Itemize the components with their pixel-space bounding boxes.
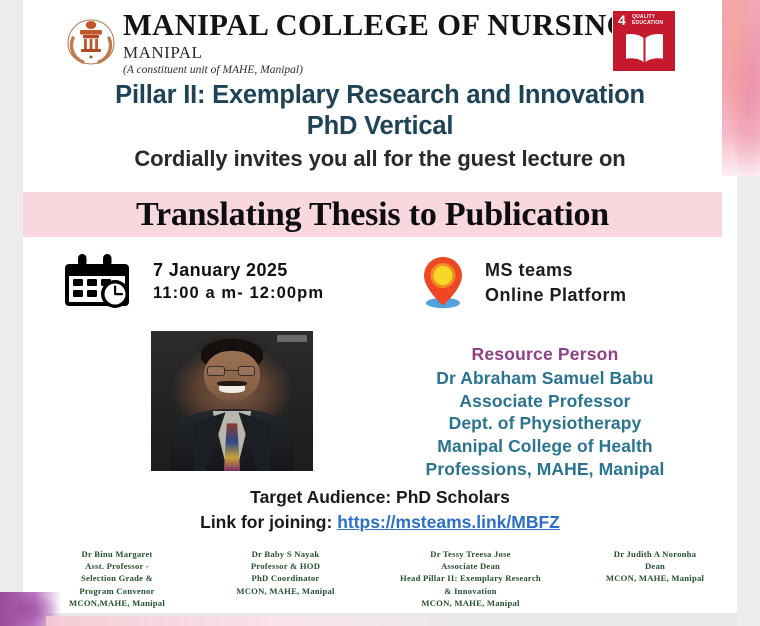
speaker-designation: Associate Professor xyxy=(353,390,737,413)
portrait-moustache xyxy=(217,381,246,386)
pillar-title-line2: PhD Vertical xyxy=(307,112,453,140)
credit-line: Dean xyxy=(573,560,737,572)
resource-person-label: Resource Person xyxy=(353,343,737,366)
credit-line: MCON, MAHE, Manipal xyxy=(368,597,573,609)
watercolor-accent-right xyxy=(722,0,760,176)
credit-name: Dr Tessy Treesa Jose xyxy=(368,548,573,560)
speaker-name: Dr Abraham Samuel Babu xyxy=(353,367,737,390)
speaker-department: Dept. of Physiotherapy xyxy=(353,412,737,435)
sdg-4-badge: 4 QUALITY EDUCATION xyxy=(612,10,676,72)
credit-column: Dr Judith A Noronha Dean MCON, MAHE, Man… xyxy=(573,548,737,585)
open-book-icon xyxy=(622,30,668,66)
portrait-glasses-left xyxy=(207,366,225,376)
lecture-title-banner: Translating Thesis to Publication xyxy=(23,192,722,237)
speaker-college-1: Manipal College of Health xyxy=(353,435,737,458)
credit-line: & Innovation xyxy=(368,585,573,597)
institution-name-block: MANIPAL COLLEGE OF NURSING MANIPAL (A co… xyxy=(123,10,631,76)
event-meta-row: 7 January 2025 11:00 a m- 12:00pm MS tea… xyxy=(23,252,737,314)
credit-line: Selection Grade & xyxy=(31,572,203,584)
page-left-margin xyxy=(0,0,23,626)
target-audience: Target Audience: PhD Scholars xyxy=(23,487,737,508)
institution-tagline: (A constituent unit of MAHE, Manipal) xyxy=(123,64,631,76)
organizer-credits: Dr Binu Margaret Asst. Professor - Selec… xyxy=(23,548,737,610)
credit-line: PhD Coordinator xyxy=(203,572,368,584)
event-platform: MS teams Online Platform xyxy=(485,258,627,308)
institution-campus: MANIPAL xyxy=(123,43,631,62)
event-datetime: 7 January 2025 11:00 a m- 12:00pm xyxy=(153,258,324,304)
join-meeting-link[interactable]: https://msteams.link/MBFZ xyxy=(337,512,560,532)
platform-mode: Online Platform xyxy=(485,283,627,308)
speaker-details: Resource Person Dr Abraham Samuel Babu A… xyxy=(353,343,737,481)
credit-line: MCON, MAHE, Manipal xyxy=(573,572,737,584)
page-title: Pillar II: Exemplary Research and Innova… xyxy=(23,80,737,142)
platform-name: MS teams xyxy=(485,258,627,283)
portrait-smile xyxy=(219,386,245,393)
join-link-row: Link for joining: https://msteams.link/M… xyxy=(23,512,737,533)
speaker-portrait-image xyxy=(151,331,313,471)
credit-column: Dr Baby S Nayak Professor & HOD PhD Coor… xyxy=(203,548,368,597)
credit-line: Professor & HOD xyxy=(203,560,368,572)
credit-column: Dr Tessy Treesa Jose Associate Dean Head… xyxy=(368,548,573,609)
credit-line: Head Pillar II: Exemplary Research xyxy=(368,572,573,584)
event-poster: MANIPAL COLLEGE OF NURSING MANIPAL (A co… xyxy=(23,0,737,613)
speaker-photo xyxy=(147,327,317,475)
pillar-title-line1: Pillar II: Exemplary Research and Innova… xyxy=(115,81,645,109)
lecture-title: Translating Thesis to Publication xyxy=(136,196,609,234)
invitation-text: Cordially invites you all for the guest … xyxy=(23,146,737,172)
sdg-number: 4 xyxy=(618,13,626,27)
credit-line: Associate Dean xyxy=(368,560,573,572)
poster-header: MANIPAL COLLEGE OF NURSING MANIPAL (A co… xyxy=(23,6,737,72)
credit-line: MCON, MAHE, Manipal xyxy=(203,585,368,597)
event-time: 11:00 a m- 12:00pm xyxy=(153,282,324,304)
institution-name: MANIPAL COLLEGE OF NURSING xyxy=(123,10,631,42)
credit-name: Dr Judith A Noronha xyxy=(573,548,737,560)
sdg-label: QUALITY EDUCATION xyxy=(632,14,675,26)
credit-line: Asst. Professor - xyxy=(31,560,203,572)
location-pin-icon xyxy=(416,254,470,310)
bottom-pink-strip xyxy=(46,616,466,626)
portrait-watermark xyxy=(277,335,306,342)
speaker-college-2: Professions, MAHE, Manipal xyxy=(353,458,737,481)
credit-name: Dr Binu Margaret xyxy=(31,548,203,560)
calendar-clock-icon xyxy=(65,252,157,310)
manipal-lamp-crest-logo xyxy=(63,14,119,68)
credit-name: Dr Baby S Nayak xyxy=(203,548,368,560)
portrait-glasses-bridge xyxy=(225,370,238,371)
event-date: 7 January 2025 xyxy=(153,258,324,282)
portrait-glasses-right xyxy=(238,366,256,376)
join-link-label: Link for joining: xyxy=(200,512,337,532)
